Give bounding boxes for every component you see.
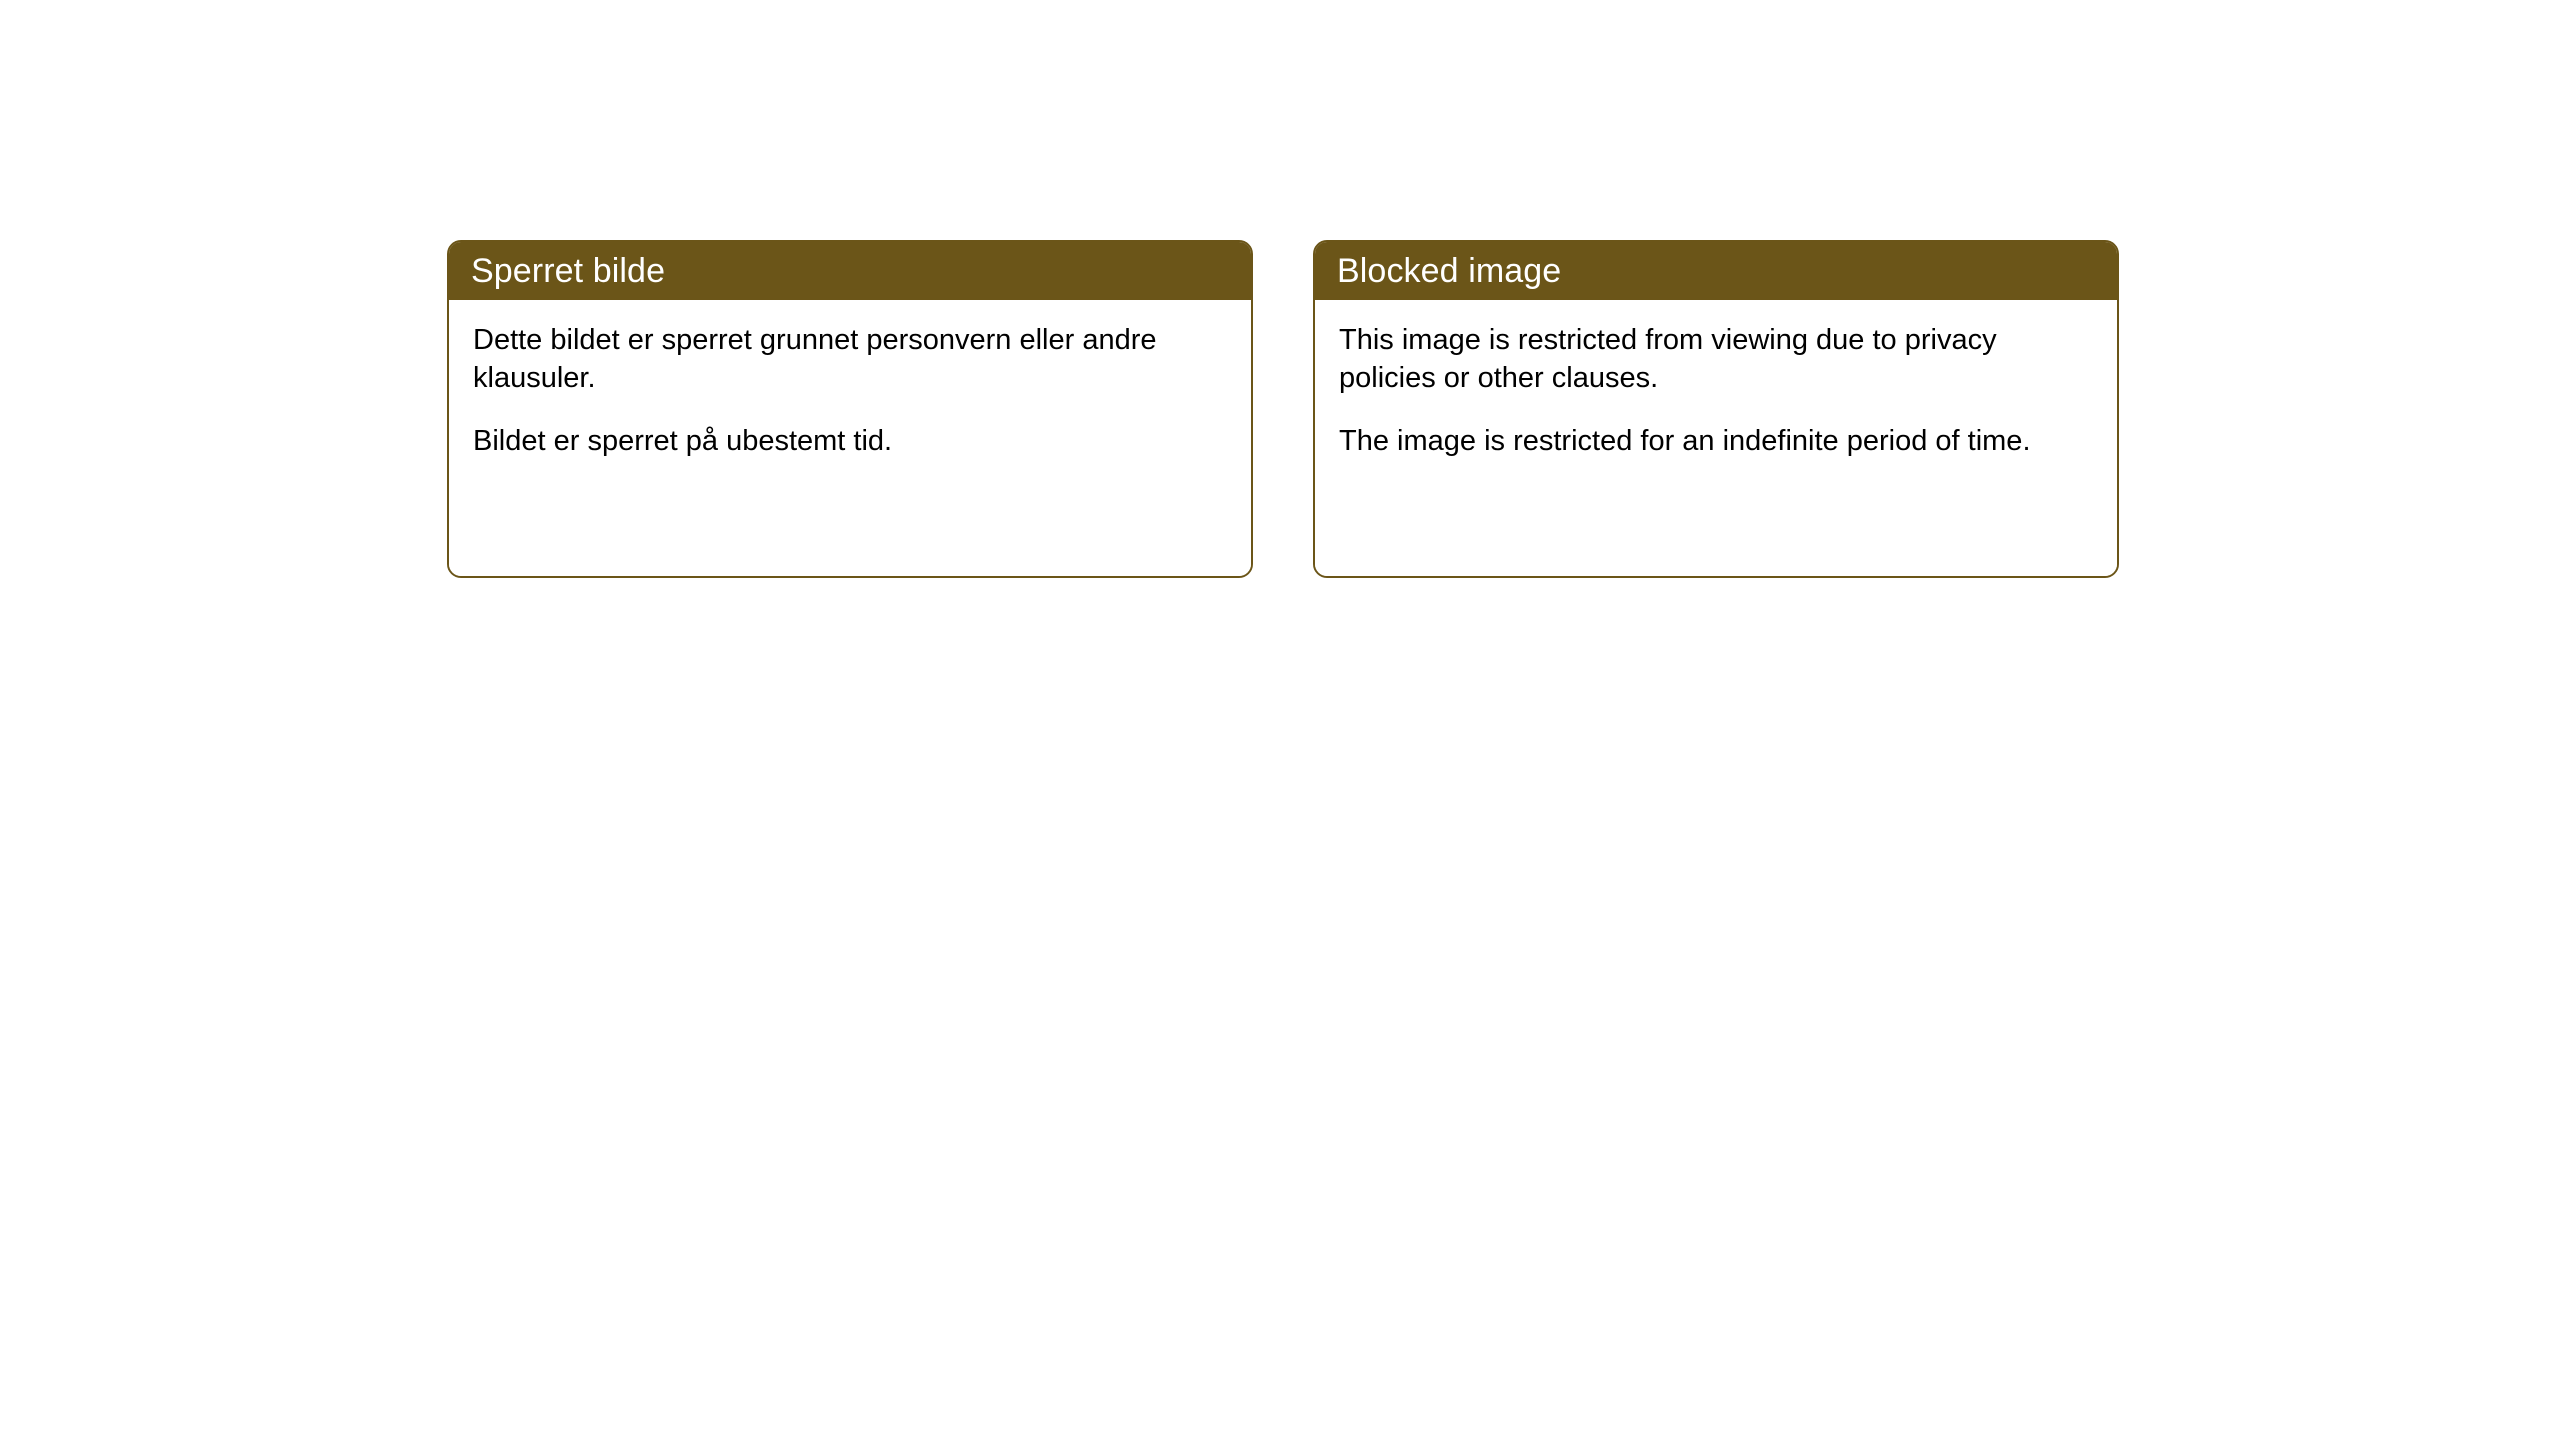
card-paragraph-primary-en: This image is restricted from viewing du… [1339, 322, 2093, 397]
card-paragraph-primary-no: Dette bildet er sperret grunnet personve… [473, 322, 1227, 397]
blocked-image-card-en: Blocked image This image is restricted f… [1313, 240, 2119, 578]
card-title-en: Blocked image [1337, 254, 1561, 288]
page-root: Sperret bilde Dette bildet er sperret gr… [0, 0, 2560, 1440]
card-header-en: Blocked image [1315, 242, 2117, 300]
card-paragraph-secondary-en: The image is restricted for an indefinit… [1339, 423, 2093, 461]
card-body-no: Dette bildet er sperret grunnet personve… [449, 300, 1251, 576]
card-header-no: Sperret bilde [449, 242, 1251, 300]
blocked-image-card-no: Sperret bilde Dette bildet er sperret gr… [447, 240, 1253, 578]
card-body-en: This image is restricted from viewing du… [1315, 300, 2117, 576]
notice-card-group: Sperret bilde Dette bildet er sperret gr… [447, 240, 2119, 578]
card-paragraph-secondary-no: Bildet er sperret på ubestemt tid. [473, 423, 1227, 461]
card-title-no: Sperret bilde [471, 254, 665, 288]
